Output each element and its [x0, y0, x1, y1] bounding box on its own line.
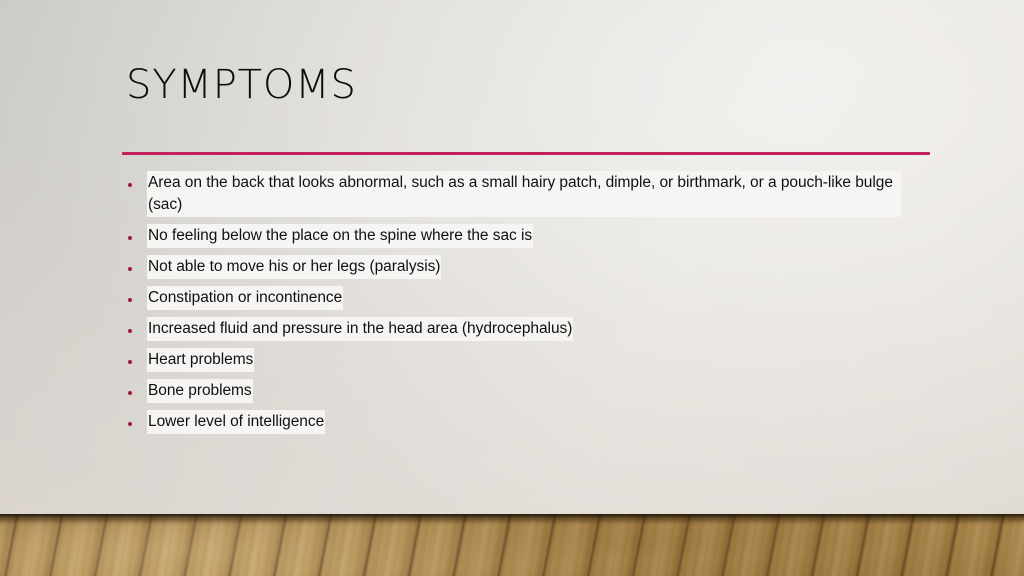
bullet-dot-icon: [128, 256, 148, 271]
list-item-label: Lower level of intelligence: [148, 411, 324, 433]
title-divider-rule: [122, 152, 930, 155]
slide-title: SYMPTOMS: [126, 62, 357, 108]
list-item: Not able to move his or her legs (paraly…: [128, 256, 928, 278]
list-item: Bone problems: [128, 380, 928, 402]
list-item: Lower level of intelligence: [128, 411, 928, 433]
list-item: Increased fluid and pressure in the head…: [128, 318, 928, 340]
bullet-dot-icon: [128, 318, 148, 333]
list-item-label: Heart problems: [148, 349, 253, 371]
bullet-list: Area on the back that looks abnormal, su…: [128, 172, 928, 442]
list-item-label: Constipation or incontinence: [148, 287, 342, 309]
presentation-slide: SYMPTOMS Area on the back that looks abn…: [0, 0, 1024, 576]
list-item: Heart problems: [128, 349, 928, 371]
floor-wall-shadow: [0, 514, 1024, 526]
list-item: Area on the back that looks abnormal, su…: [128, 172, 928, 216]
bullet-dot-icon: [128, 225, 148, 240]
bullet-dot-icon: [128, 380, 148, 395]
slide-background-floor: [0, 514, 1024, 576]
list-item-label: No feeling below the place on the spine …: [148, 225, 532, 247]
list-item-label: Area on the back that looks abnormal, su…: [148, 172, 900, 216]
list-item-label: Increased fluid and pressure in the head…: [148, 318, 572, 340]
bullet-dot-icon: [128, 349, 148, 364]
bullet-dot-icon: [128, 287, 148, 302]
list-item-label: Not able to move his or her legs (paraly…: [148, 256, 440, 278]
list-item-label: Bone problems: [148, 380, 252, 402]
bullet-dot-icon: [128, 411, 148, 426]
bullet-dot-icon: [128, 172, 148, 187]
list-item: No feeling below the place on the spine …: [128, 225, 928, 247]
list-item: Constipation or incontinence: [128, 287, 928, 309]
